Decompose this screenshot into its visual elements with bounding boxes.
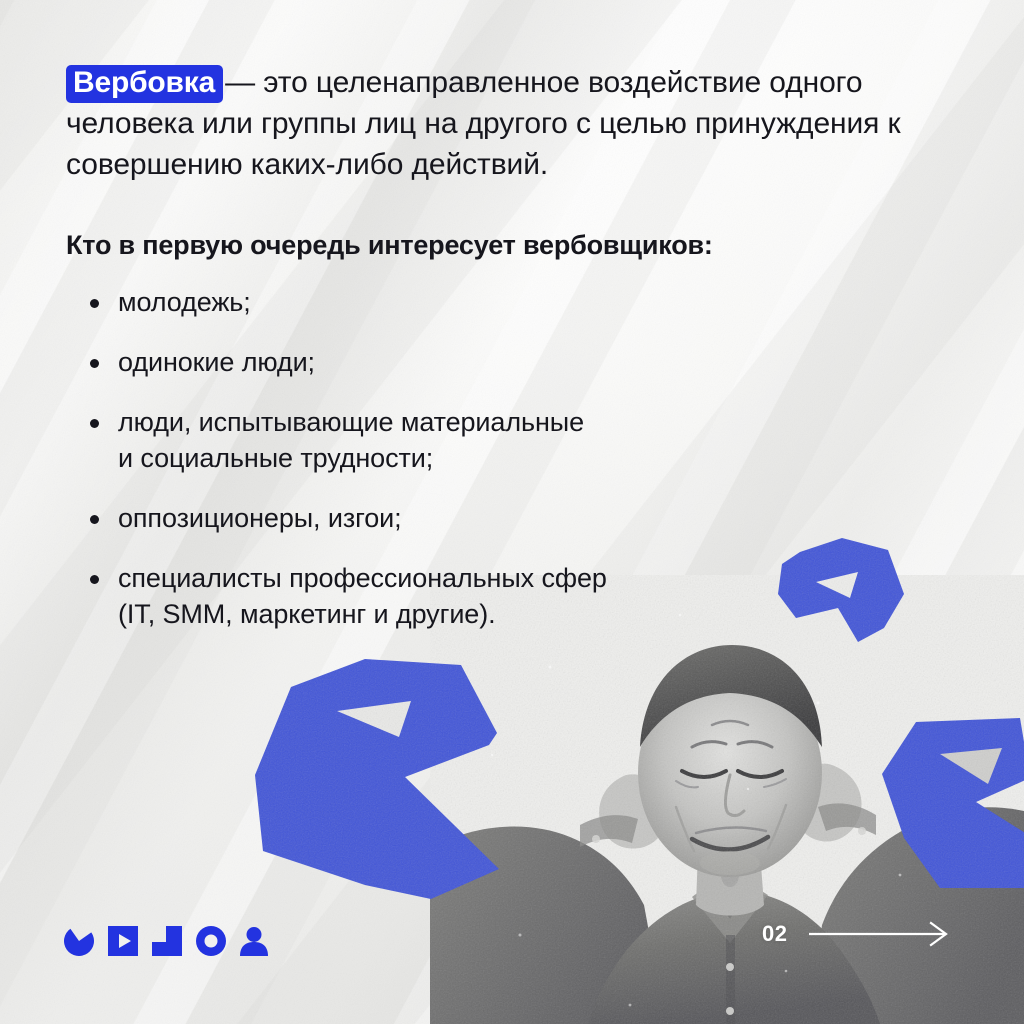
list-item: люди, испытывающие материальные и социал… (66, 404, 946, 476)
list-item: одинокие люди; (66, 344, 946, 380)
list-item-line2: и социальные трудности; (118, 440, 946, 476)
list-item: молодежь; (66, 284, 946, 320)
photo-man-covering-ears (430, 575, 1024, 1024)
person-icon (240, 926, 268, 956)
text-content: Вербовка— это целенаправленное воздейств… (66, 62, 946, 632)
list-item-line2: (IT, SMM, маркетинг и другие). (118, 596, 946, 632)
list-item: оппозиционеры, изгои; (66, 500, 946, 536)
ring-icon (196, 926, 226, 956)
list-item-line1: одинокие люди; (118, 347, 315, 377)
target-groups-list: молодежь; одинокие люди; люди, испытываю… (66, 284, 946, 632)
highlighted-term: Вербовка (66, 65, 223, 103)
step-block-icon (152, 926, 182, 956)
list-item: специалисты профессиональных сфер (IT, S… (66, 560, 946, 632)
lead-paragraph: Вербовка— это целенаправленное воздейств… (66, 62, 946, 185)
list-item-line1: люди, испытывающие материальные (118, 407, 584, 437)
brand-logo (64, 926, 268, 956)
play-square-icon (108, 926, 138, 956)
next-arrow-icon[interactable] (809, 921, 949, 947)
list-item-line1: оппозиционеры, изгои; (118, 503, 402, 533)
page-number: 02 (762, 923, 787, 945)
pacman-circle-icon (64, 926, 94, 956)
list-item-line1: специалисты профессиональных сфер (118, 563, 607, 593)
slide: Вербовка— это целенаправленное воздейств… (0, 0, 1024, 1024)
pager: 02 (762, 921, 949, 947)
list-item-line1: молодежь; (118, 287, 251, 317)
subheading: Кто в первую очередь интересует вербовщи… (66, 228, 946, 262)
